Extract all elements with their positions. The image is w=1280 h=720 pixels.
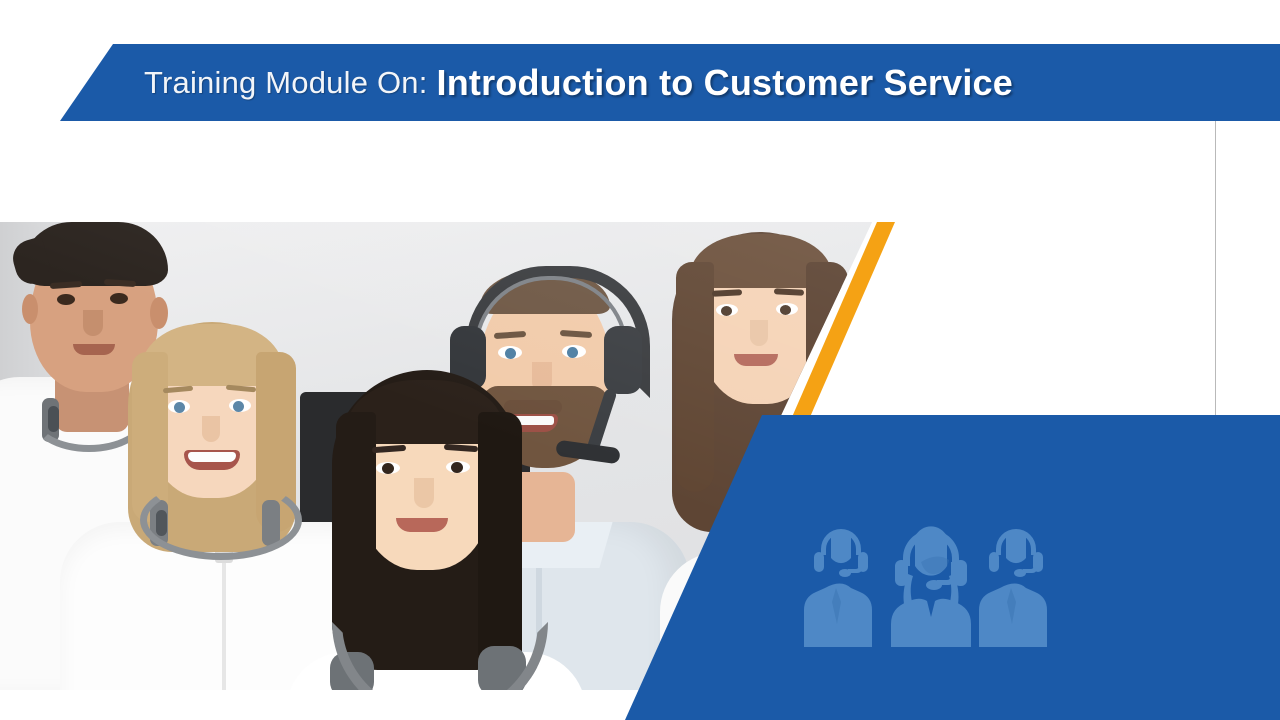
vertical-divider xyxy=(1215,121,1216,416)
agent-male-left-icon xyxy=(804,529,872,647)
agent-male-right-icon xyxy=(979,529,1047,647)
agent-female-center-icon xyxy=(891,526,971,647)
support-agents-icon-group xyxy=(803,522,1078,647)
slide-canvas: Training Module On: Introduction to Cust… xyxy=(0,0,1280,720)
title-banner: Training Module On: Introduction to Cust… xyxy=(0,44,1280,121)
title-prefix: Training Module On: xyxy=(144,65,428,101)
page-title: Introduction to Customer Service xyxy=(437,62,1013,104)
